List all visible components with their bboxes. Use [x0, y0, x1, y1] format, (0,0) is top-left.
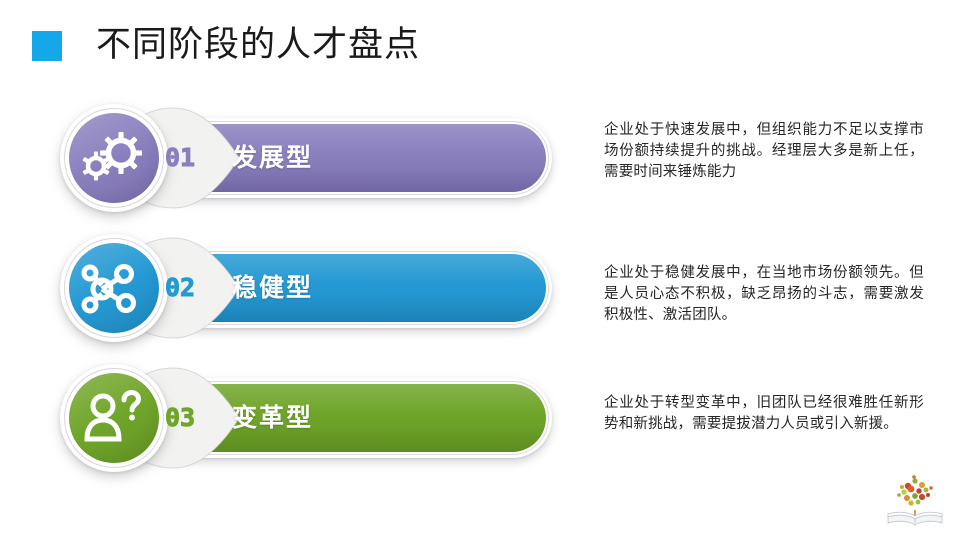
stage-number-2: 02 — [158, 274, 202, 302]
network-nodes-icon — [69, 243, 159, 333]
stage-number-3: 03 — [158, 404, 202, 432]
blue-square-icon — [32, 31, 62, 61]
stage-description-1: 企业处于快速发展中，但组织能力不足以支撑市场份额持续提升的挑战。经理层大多是新上… — [604, 120, 924, 183]
icon-circle-3 — [60, 364, 168, 472]
page-title-text: 不同阶段的人才盘点 — [96, 27, 420, 62]
stage-description-3: 企业处于转型变革中，旧团队已经很难胜任新形势和新挑战，需要提拔潜力人员或引入新援… — [604, 393, 924, 435]
person-question-icon — [69, 373, 159, 463]
stage-pill-3[interactable]: 03 变革型 — [60, 364, 560, 472]
stage-label-3: 变革型 — [232, 400, 313, 436]
stage-description-2: 企业处于稳健发展中，在当地市场份额领先。但是人员心态不积极，缺乏昂扬的斗志，需要… — [604, 263, 924, 326]
stage-number-1: 01 — [158, 144, 202, 172]
stage-label-2: 稳健型 — [232, 270, 313, 306]
gears-icon — [69, 113, 159, 203]
stage-pill-2[interactable]: 02 稳健型 — [60, 234, 560, 342]
stage-pill-1[interactable]: 01 发展型 — [60, 104, 560, 212]
icon-circle-1 — [60, 104, 168, 212]
stage-label-1: 发展型 — [232, 140, 313, 176]
icon-circle-2 — [60, 234, 168, 342]
tree-book-logo — [884, 470, 946, 528]
page-title: 不同阶段的人才盘点 — [0, 14, 956, 74]
slide: 不同阶段的人才盘点 — [0, 0, 956, 534]
